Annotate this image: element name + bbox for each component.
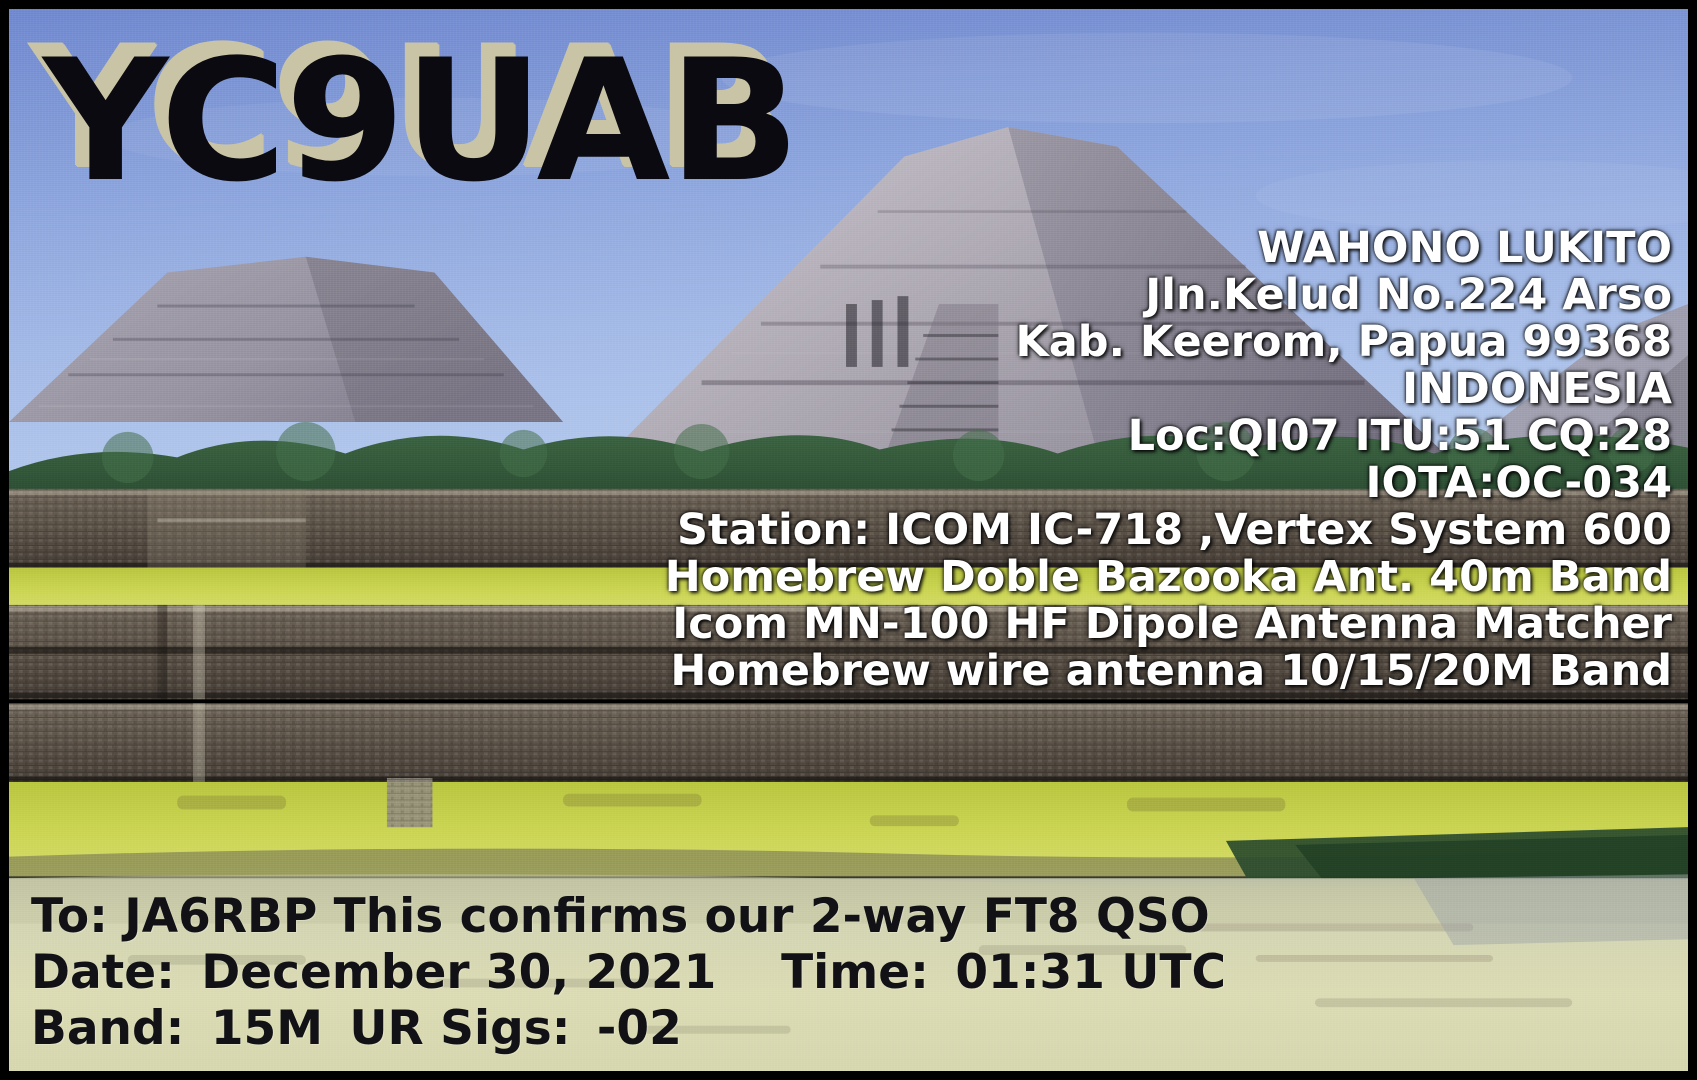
- operator-city: Kab. Keerom, Papua 99368: [665, 319, 1672, 366]
- qso-band-label: Band:: [31, 1001, 184, 1056]
- qso-date-label: Date:: [31, 945, 175, 1000]
- station-matcher: Icom MN-100 HF Dipole Antenna Matcher: [665, 601, 1672, 648]
- qso-confirmation-block: To: JA6RBP This confirms our 2-way FT8 Q…: [31, 889, 1236, 1057]
- qso-band-value: 15M: [211, 1001, 323, 1056]
- qso-date-value: December 30, 2021: [201, 945, 716, 1000]
- qso-time-label: Time:: [781, 945, 929, 1000]
- qso-sigs-value: -02: [597, 1001, 682, 1056]
- operator-street: Jln.Kelud No.224 Arso: [665, 272, 1672, 319]
- operator-name: WAHONO LUKITO: [665, 225, 1672, 272]
- station-antenna-40m: Homebrew Doble Bazooka Ant. 40m Band: [665, 554, 1672, 601]
- station-antenna-wire: Homebrew wire antenna 10/15/20M Band: [665, 648, 1672, 695]
- qso-sigs-label: UR Sigs:: [349, 1001, 570, 1056]
- station-rigs: Station: ICOM IC-718 ,Vertex System 600: [665, 507, 1672, 554]
- qsl-card: YC9UAB WAHONO LUKITO Jln.Kelud No.224 Ar…: [0, 0, 1697, 1080]
- qso-to-line: To: JA6RBP This confirms our 2-way FT8 Q…: [31, 889, 1236, 945]
- qso-date-time-line: Date: December 30, 2021 Time: 01:31 UTC: [31, 945, 1236, 1001]
- operator-info-block: WAHONO LUKITO Jln.Kelud No.224 Arso Kab.…: [665, 225, 1672, 695]
- callsign-heading: YC9UAB: [43, 37, 798, 205]
- iota-reference: IOTA:OC-034: [665, 460, 1672, 507]
- grid-locator-line: Loc:QI07 ITU:51 CQ:28: [665, 413, 1672, 460]
- qso-band-sigs-line: Band: 15M UR Sigs: -02: [31, 1001, 1236, 1057]
- qso-time-value: 01:31 UTC: [955, 945, 1226, 1000]
- operator-country: INDONESIA: [665, 366, 1672, 413]
